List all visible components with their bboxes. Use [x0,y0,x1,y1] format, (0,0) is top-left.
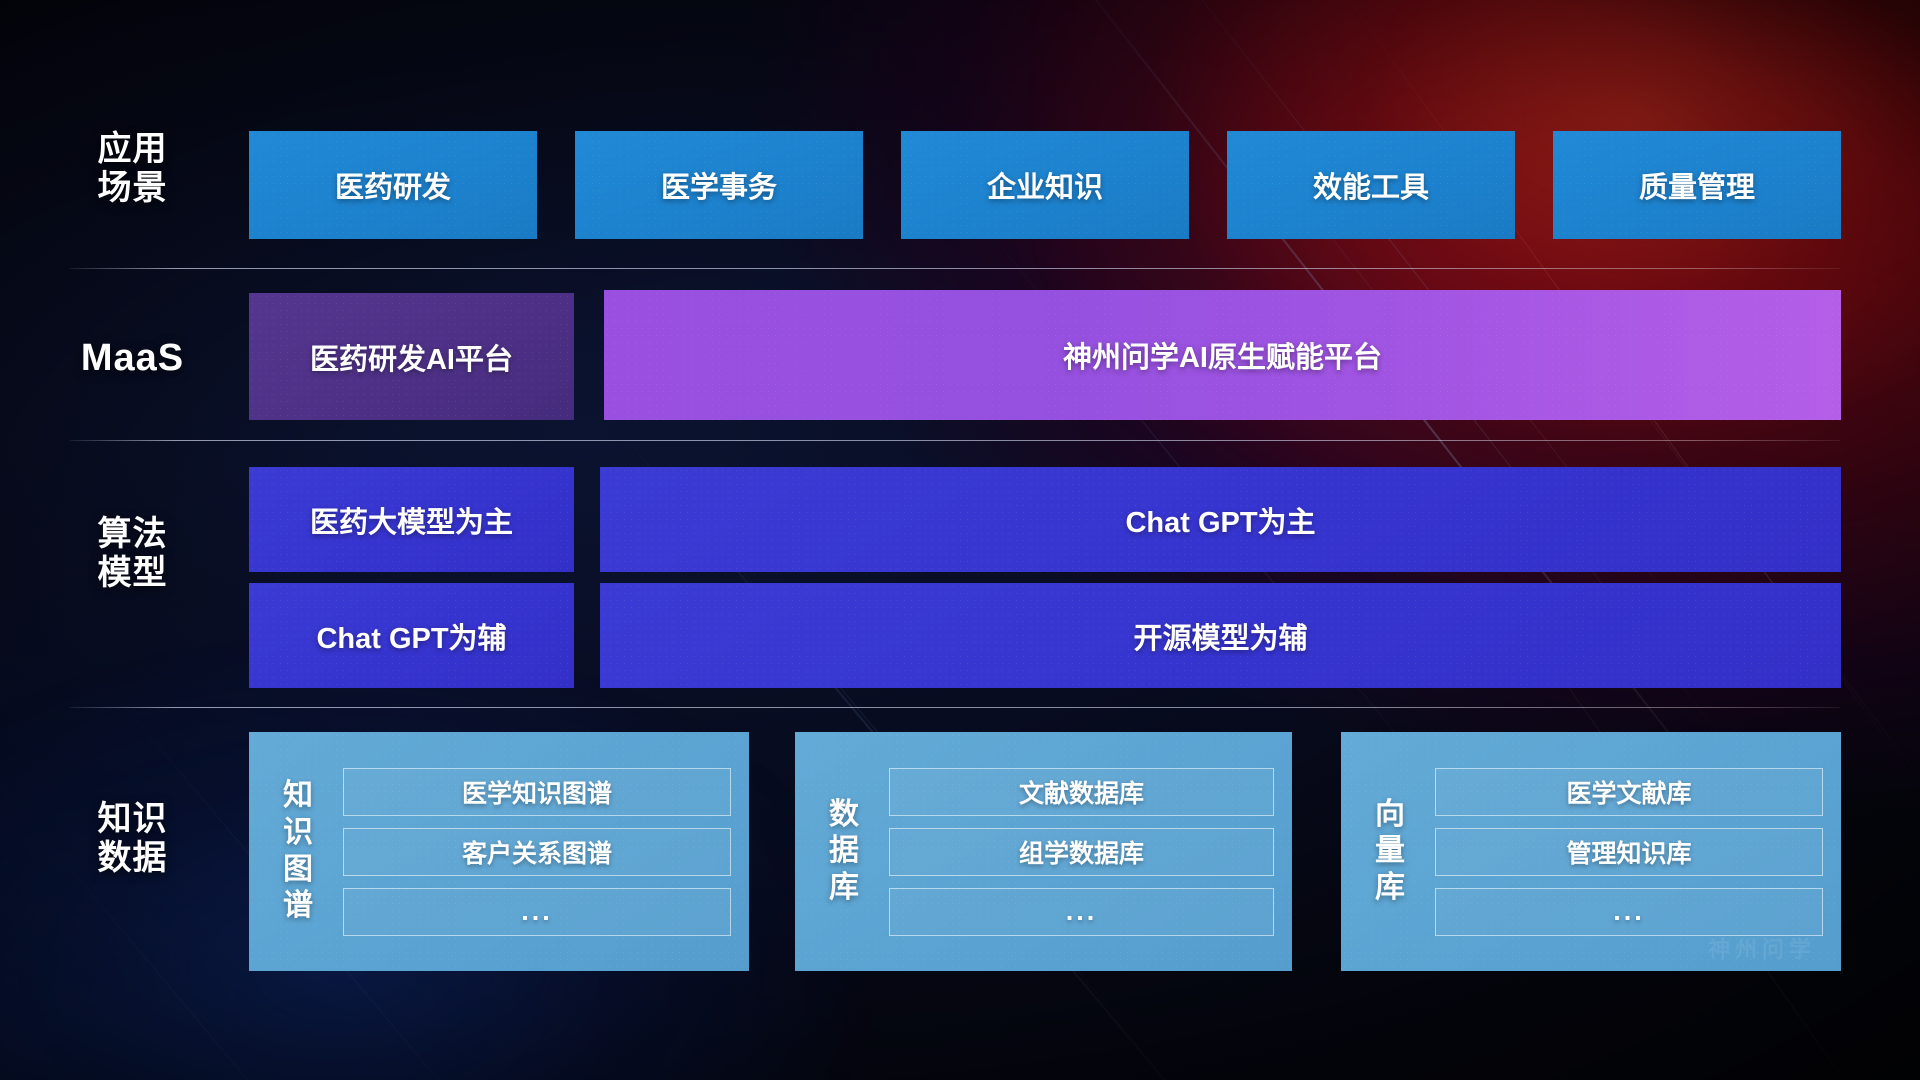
divider-after-application [70,268,1840,269]
app-box-enterprise-knowledge[interactable]: 企业知识 [901,131,1189,239]
app-box-quality-management-label: 质量管理 [1639,164,1755,206]
knowledge-panel-database[interactable]: 数 据 库 文献数据库 组学数据库 ... [795,732,1292,971]
watermark: 神州问学 [1708,932,1816,964]
app-box-quality-management[interactable]: 质量管理 [1553,131,1841,239]
app-box-enterprise-knowledge-label: 企业知识 [987,164,1103,206]
algo-box-chatgpt-primary-label: Chat GPT为主 [1125,499,1315,541]
kg-char-3: 谱 [283,888,313,925]
knowledge-item-more[interactable]: ... [1435,888,1823,936]
kg-char-1: 识 [283,815,313,852]
row-label-knowledge-line1: 知识 [60,800,205,839]
knowledge-item-more[interactable]: ... [343,888,731,936]
row-label-algorithm-line2: 模型 [60,554,205,593]
algo-box-medical-large-model-primary-label: 医药大模型为主 [310,499,513,541]
row-label-knowledge: 知识 数据 [60,800,205,879]
knowledge-panel-database-items: 文献数据库 组学数据库 ... [877,732,1292,971]
app-box-medical-rd[interactable]: 医药研发 [249,131,537,239]
knowledge-panel-vector-library-vertical-label: 向 量 库 [1357,732,1423,971]
app-box-efficiency-tools-label: 效能工具 [1313,164,1429,206]
app-box-medical-affairs-label: 医学事务 [661,164,777,206]
knowledge-panel-knowledge-graph-items: 医学知识图谱 客户关系图谱 ... [331,732,749,971]
knowledge-item[interactable]: 文献数据库 [889,768,1274,816]
maas-box-medical-rd-ai-platform[interactable]: 医药研发AI平台 [249,293,574,420]
algo-box-chatgpt-secondary-label: Chat GPT为辅 [316,615,506,657]
row-label-maas-text: MaaS [60,336,205,380]
divider-after-algorithm [70,707,1840,708]
knowledge-panel-knowledge-graph[interactable]: 知 识 图 谱 医学知识图谱 客户关系图谱 ... [249,732,749,971]
divider-after-maas [70,440,1840,441]
algo-box-chatgpt-secondary[interactable]: Chat GPT为辅 [249,583,574,688]
kg-char-2: 图 [283,852,313,889]
row-label-algorithm-line1: 算法 [60,515,205,554]
app-box-medical-rd-label: 医药研发 [335,164,451,206]
maas-box-medical-rd-ai-platform-label: 医药研发AI平台 [310,336,513,378]
algo-box-opensource-secondary-label: 开源模型为辅 [1133,615,1307,657]
app-box-medical-affairs[interactable]: 医学事务 [575,131,863,239]
db-char-0: 数 [829,797,859,834]
db-char-2: 库 [829,870,859,907]
knowledge-item[interactable]: 医学知识图谱 [343,768,731,816]
algo-box-opensource-secondary[interactable]: 开源模型为辅 [600,583,1841,688]
row-label-application-line2: 场景 [60,169,205,208]
vec-char-0: 向 [1375,797,1405,834]
app-box-efficiency-tools[interactable]: 效能工具 [1227,131,1515,239]
vec-char-1: 量 [1375,833,1405,870]
vec-char-2: 库 [1375,870,1405,907]
algo-box-medical-large-model-primary[interactable]: 医药大模型为主 [249,467,574,572]
row-label-maas: MaaS [60,336,205,380]
db-char-1: 据 [829,833,859,870]
maas-box-shenzhou-wenxue-platform-label: 神州问学AI原生赋能平台 [1063,334,1382,376]
knowledge-panel-knowledge-graph-vertical-label: 知 识 图 谱 [265,732,331,971]
knowledge-item[interactable]: 管理知识库 [1435,828,1823,876]
row-label-knowledge-line2: 数据 [60,839,205,878]
row-label-application: 应用 场景 [60,130,205,209]
knowledge-panel-database-vertical-label: 数 据 库 [811,732,877,971]
knowledge-item[interactable]: 医学文献库 [1435,768,1823,816]
knowledge-item-more[interactable]: ... [889,888,1274,936]
row-label-application-line1: 应用 [60,130,205,169]
knowledge-item[interactable]: 组学数据库 [889,828,1274,876]
maas-box-shenzhou-wenxue-platform[interactable]: 神州问学AI原生赋能平台 [604,290,1841,420]
kg-char-0: 知 [283,778,313,815]
row-label-algorithm: 算法 模型 [60,515,205,594]
knowledge-item[interactable]: 客户关系图谱 [343,828,731,876]
algo-box-chatgpt-primary[interactable]: Chat GPT为主 [600,467,1841,572]
